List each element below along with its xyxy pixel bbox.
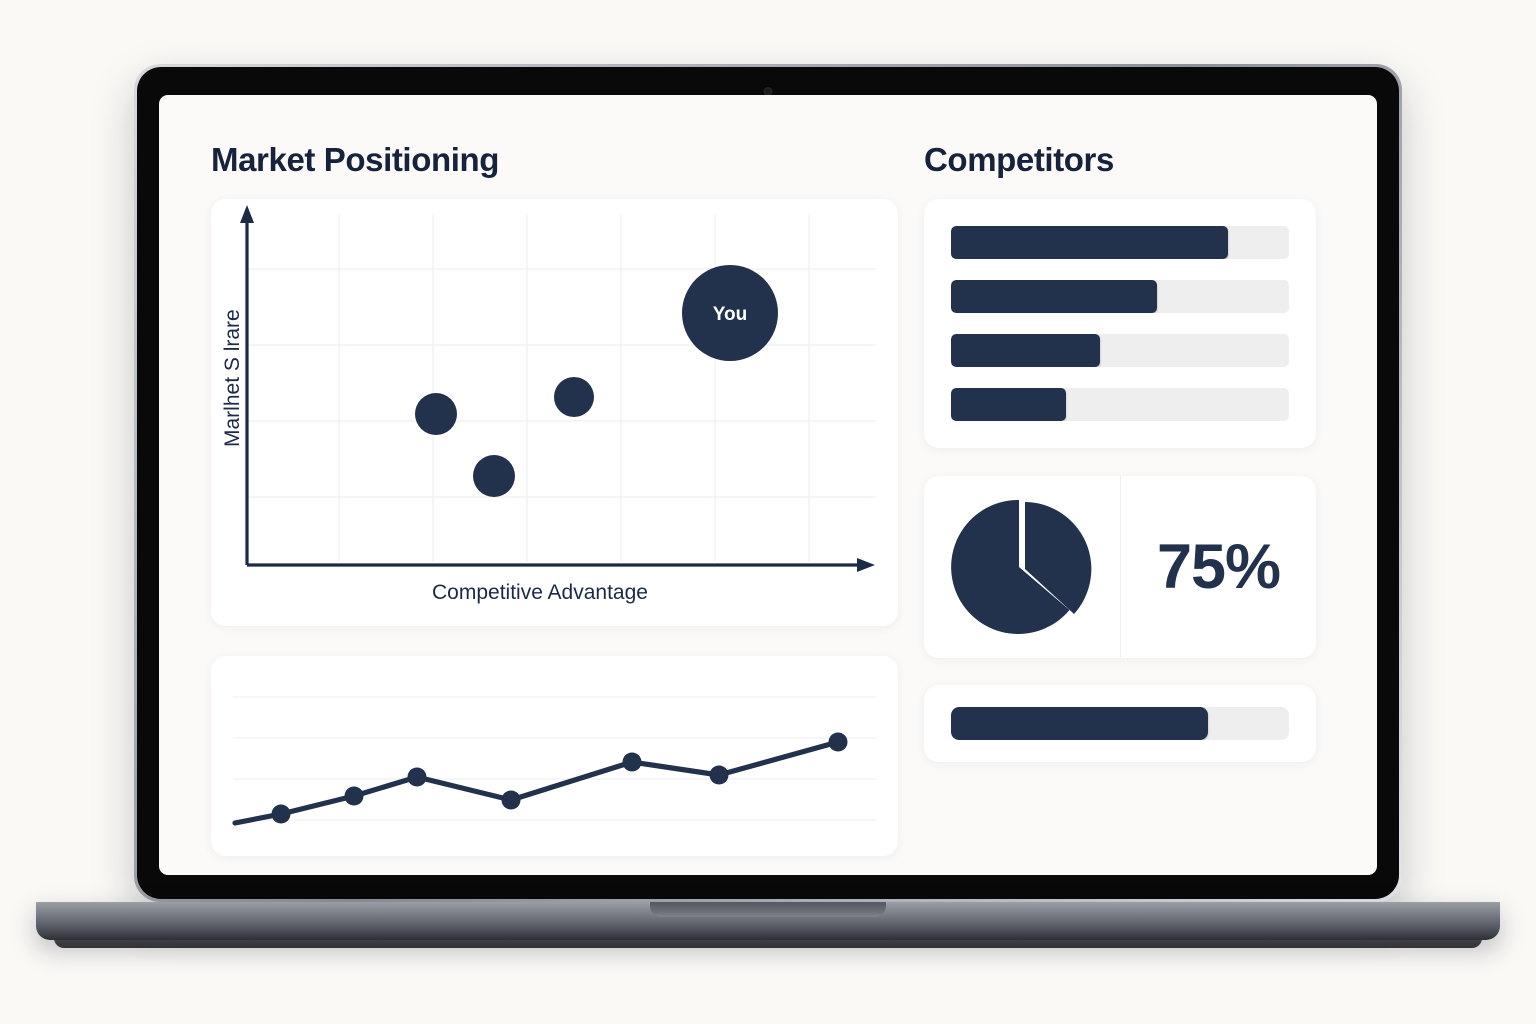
bubble-competitor-1[interactable] (415, 393, 457, 435)
bubble-you-label: You (713, 304, 747, 325)
screenshot-stage: Market Positioning (0, 0, 1536, 1024)
trend-chart-card (211, 656, 898, 856)
laptop-base-notch (650, 902, 886, 917)
page-title: Market Positioning (211, 141, 898, 179)
market-positioning-chart-card: You Marlhet S lrare Competitive Advantag… (211, 199, 898, 626)
bar-track (951, 226, 1289, 259)
dashboard: Market Positioning (159, 95, 1377, 875)
data-bubbles: You (415, 265, 778, 497)
share-percentage-value: 75% (1157, 531, 1280, 603)
competitor-bars-card (924, 199, 1316, 448)
trend-line (235, 742, 838, 823)
progress-fill (951, 707, 1208, 740)
x-axis-label: Competitive Advantage (432, 581, 648, 604)
scatter-plot: You Marlhet S lrare Competitive Advantag… (211, 199, 898, 626)
data-point[interactable] (710, 766, 729, 785)
competitor-bar-row-2[interactable] (951, 280, 1289, 313)
data-point[interactable] (502, 791, 521, 810)
data-point[interactable] (272, 805, 291, 824)
pie-chart (924, 476, 1120, 658)
left-column: Market Positioning (211, 141, 898, 856)
bubble-competitor-3[interactable] (554, 377, 594, 417)
bar-fill (951, 334, 1100, 367)
y-axis-label: Marlhet S lrare (221, 309, 244, 447)
competitor-bar-row-1[interactable] (951, 226, 1289, 259)
right-column: Competitors (924, 141, 1316, 762)
laptop-screen: Market Positioning (159, 95, 1377, 875)
scatter-svg: You Marlhet S lrare Competitive Advantag… (211, 199, 898, 626)
bar-fill (951, 280, 1157, 313)
line-chart-svg (211, 656, 898, 856)
competitors-title: Competitors (924, 141, 1316, 179)
bar-track (951, 388, 1289, 421)
laptop-base-foot (54, 938, 1482, 948)
bubble-competitor-2[interactable] (473, 455, 515, 497)
data-point[interactable] (623, 753, 642, 772)
bar-fill (951, 388, 1066, 421)
share-percentage: 75% (1120, 476, 1316, 658)
trend-markers (272, 733, 848, 824)
laptop-bezel: Market Positioning (137, 67, 1399, 899)
laptop-base (36, 902, 1500, 940)
data-point[interactable] (829, 733, 848, 752)
data-point[interactable] (408, 768, 427, 787)
progress-track[interactable] (951, 707, 1289, 740)
data-point[interactable] (345, 787, 364, 806)
pie-chart-svg (951, 496, 1093, 638)
bar-track (951, 280, 1289, 313)
laptop-device: Market Positioning (134, 64, 1402, 902)
bar-fill (951, 226, 1228, 259)
competitor-bar-row-4[interactable] (951, 388, 1289, 421)
bar-track (951, 334, 1289, 367)
share-pie-card: 75% (924, 476, 1316, 658)
overall-progress-card (924, 685, 1316, 762)
competitor-bar-row-3[interactable] (951, 334, 1289, 367)
